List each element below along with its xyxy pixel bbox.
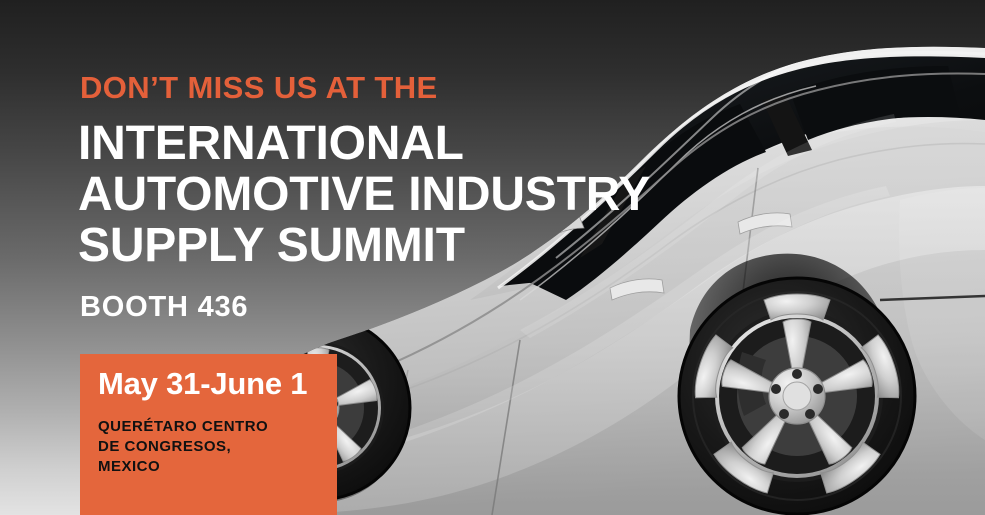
date-venue-panel: May 31-June 1 QUERÉTARO CENTRO DE CONGRE… xyxy=(80,354,337,515)
venue-line-2: DE CONGRESOS, xyxy=(98,437,268,457)
venue-line-1: QUERÉTARO CENTRO xyxy=(98,417,268,437)
event-dates: May 31-June 1 xyxy=(98,368,307,399)
page-title: INTERNATIONAL AUTOMOTIVE INDUSTRY SUPPLY… xyxy=(78,118,650,271)
headline-line-1: INTERNATIONAL xyxy=(78,118,650,169)
booth-number: BOOTH 436 xyxy=(80,293,248,322)
banner-content: DON’T MISS US AT THE INTERNATIONAL AUTOM… xyxy=(0,0,985,515)
headline-line-3: SUPPLY SUMMIT xyxy=(78,220,650,271)
venue-line-3: MEXICO xyxy=(98,457,268,477)
promotional-banner: DON’T MISS US AT THE INTERNATIONAL AUTOM… xyxy=(0,0,985,515)
eyebrow-text: DON’T MISS US AT THE xyxy=(80,72,438,103)
event-venue: QUERÉTARO CENTRO DE CONGRESOS, MEXICO xyxy=(98,417,268,477)
headline-line-2: AUTOMOTIVE INDUSTRY xyxy=(78,169,650,220)
